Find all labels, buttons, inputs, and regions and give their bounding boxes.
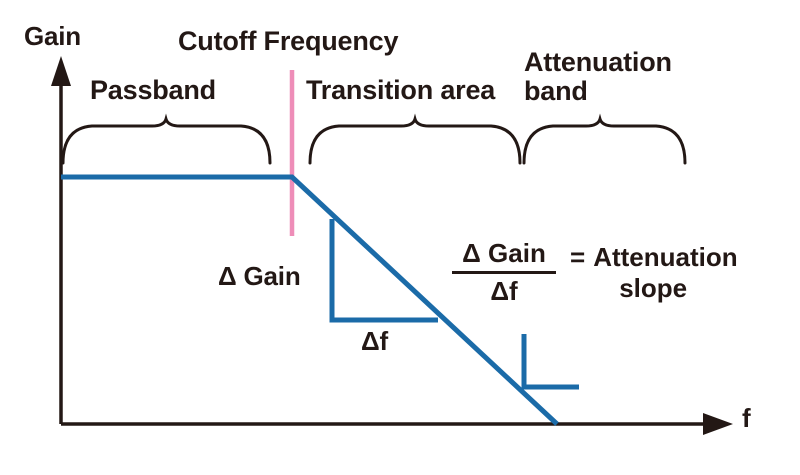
filter-response-figure: Gain Cutoff Frequency Passband Transitio… [0, 0, 800, 475]
attenuation-slope-line2: slope [619, 273, 737, 304]
slope-fraction: Δ Gain Δf [452, 238, 556, 307]
fraction-numerator: Δ Gain [456, 238, 552, 271]
attenuation-band-label: Attenuation band [524, 48, 672, 106]
delta-gain-label: Δ Gain [218, 262, 301, 290]
transition-area-label: Transition area [306, 76, 495, 105]
attenuation-slope-text: Attenuation slope [593, 242, 737, 304]
corner-axis-marker [524, 334, 579, 387]
x-axis [61, 413, 733, 435]
y-axis [51, 56, 71, 424]
equals-sign: = [570, 242, 585, 273]
slope-triangle [332, 219, 438, 320]
passband-label: Passband [90, 76, 216, 105]
formula-right-side: = Attenuation slope [570, 242, 738, 304]
brace-passband [63, 119, 270, 163]
fraction-denominator: Δf [484, 274, 523, 307]
attenuation-slope-line1: Attenuation [593, 242, 737, 273]
delta-f-label: Δf [361, 327, 388, 355]
y-axis-label: Gain [24, 22, 81, 50]
cutoff-frequency-label: Cutoff Frequency [178, 27, 398, 56]
x-axis-label: f [742, 404, 750, 432]
attenuation-band-label-line2: band [524, 77, 672, 106]
attenuation-slope-formula: Δ Gain Δf = Attenuation slope [452, 238, 738, 307]
brace-transition [310, 119, 520, 163]
brace-attenuation [524, 119, 685, 163]
attenuation-band-label-line1: Attenuation [524, 48, 672, 77]
